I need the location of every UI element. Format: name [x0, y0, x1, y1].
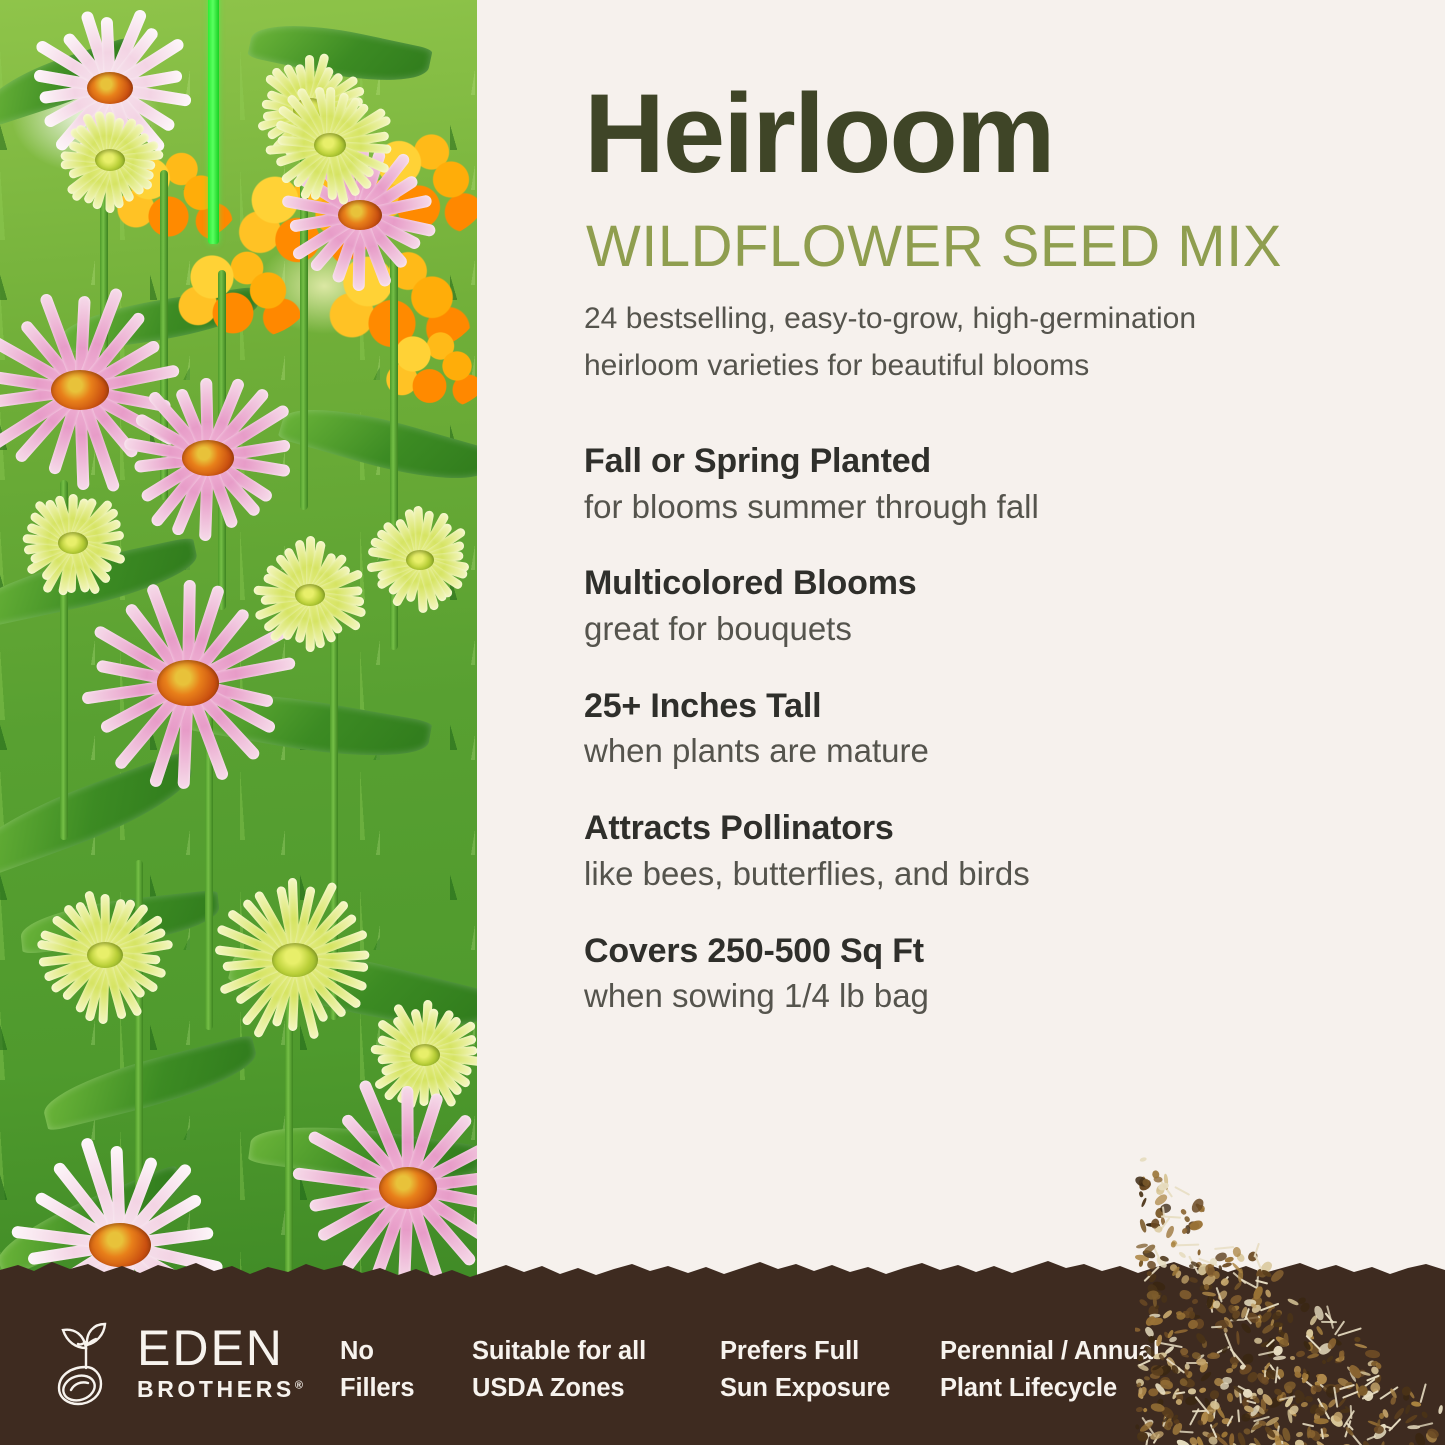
product-infographic: Heirloom WILDFLOWER SEED MIX 24 bestsell… [0, 0, 1445, 1445]
coneflower-bud [370, 510, 470, 610]
feature-item: Fall or Spring Planted for blooms summer… [584, 440, 1384, 528]
footer-item-usda-zones: Suitable for all USDA Zones [472, 1333, 646, 1407]
coneflower-bud [255, 540, 365, 650]
page-subtitle: WILDFLOWER SEED MIX [586, 218, 1282, 276]
page-title: Heirloom [584, 78, 1053, 190]
cone-center [182, 440, 234, 476]
footer-item-line-1: Prefers Full [720, 1333, 890, 1370]
coneflower-bloom [120, 370, 295, 545]
feature-item: Multicolored Blooms great for bouquets [584, 562, 1384, 650]
feature-subtitle: for blooms summer through fall [584, 486, 1384, 529]
feature-title: 25+ Inches Tall [584, 685, 1384, 728]
cone-center [379, 1167, 437, 1209]
cone-center [314, 133, 346, 157]
footer-item-line-2: Fillers [340, 1370, 414, 1407]
feature-title: Fall or Spring Planted [584, 440, 1384, 483]
feature-subtitle: when sowing 1/4 lb bag [584, 975, 1384, 1018]
coneflower-bud [270, 85, 390, 205]
cone-center [87, 942, 123, 968]
feature-title: Attracts Pollinators [584, 807, 1384, 850]
logo-brothers-text: BROTHERS® [137, 1378, 303, 1401]
cone-center [51, 370, 109, 410]
coneflower-bud [60, 110, 160, 210]
feature-title: Multicolored Blooms [584, 562, 1384, 605]
feature-subtitle: great for bouquets [584, 608, 1384, 651]
footer-item-plant-lifecycle: Perennial / Annual Plant Lifecycle [940, 1333, 1160, 1407]
logo-brothers-word: BROTHERS [137, 1376, 295, 1402]
feature-item: Attracts Pollinators like bees, butterfl… [584, 807, 1384, 895]
footer-item-line-1: No [340, 1333, 414, 1370]
feature-item: 25+ Inches Tall when plants are mature [584, 685, 1384, 773]
lede-line-1: 24 bestselling, easy-to-grow, high-germi… [584, 296, 1374, 343]
footer-item-line-2: Plant Lifecycle [940, 1370, 1160, 1407]
coneflower-bud [215, 880, 375, 1040]
coneflower-bud [40, 890, 170, 1020]
feature-title: Covers 250-500 Sq Ft [584, 930, 1384, 973]
cone-center [272, 943, 318, 977]
footer-item-line-2: Sun Exposure [720, 1370, 890, 1407]
garden-stake [208, 0, 219, 244]
wildflower-garden-photo [0, 0, 477, 1300]
footer-content: EDEN BROTHERS® No Fillers Suitable for a… [0, 1280, 1445, 1445]
feature-list: Fall or Spring Planted for blooms summer… [584, 440, 1384, 1052]
eden-brothers-logo[interactable]: EDEN BROTHERS® [47, 1318, 303, 1406]
cone-center [87, 72, 133, 104]
footer-band: EDEN BROTHERS® No Fillers Suitable for a… [0, 1280, 1445, 1445]
feature-subtitle: like bees, butterflies, and birds [584, 853, 1384, 896]
footer-item-line-1: Perennial / Annual [940, 1333, 1160, 1370]
feature-subtitle: when plants are mature [584, 730, 1384, 773]
cone-center [410, 1044, 440, 1066]
footer-item-line-1: Suitable for all [472, 1333, 646, 1370]
content-panel: Heirloom WILDFLOWER SEED MIX 24 bestsell… [477, 0, 1445, 1300]
cone-center [295, 584, 325, 606]
logo-wordmark: EDEN BROTHERS® [137, 1323, 303, 1401]
registered-trademark-icon: ® [295, 1379, 303, 1391]
footer-item-line-2: USDA Zones [472, 1370, 646, 1407]
cone-center [157, 660, 219, 706]
lede-line-2: heirloom varieties for beautiful blooms [584, 343, 1374, 390]
footer-item-no-fillers: No Fillers [340, 1333, 414, 1407]
cone-center [95, 149, 125, 171]
lede-text: 24 bestselling, easy-to-grow, high-germi… [584, 296, 1374, 389]
cone-center [406, 550, 434, 570]
seedling-logo-icon [47, 1318, 123, 1406]
logo-eden-text: EDEN [137, 1323, 303, 1373]
feature-item: Covers 250-500 Sq Ft when sowing 1/4 lb … [584, 930, 1384, 1018]
cone-center [58, 532, 88, 554]
footer-item-sun-exposure: Prefers Full Sun Exposure [720, 1333, 890, 1407]
